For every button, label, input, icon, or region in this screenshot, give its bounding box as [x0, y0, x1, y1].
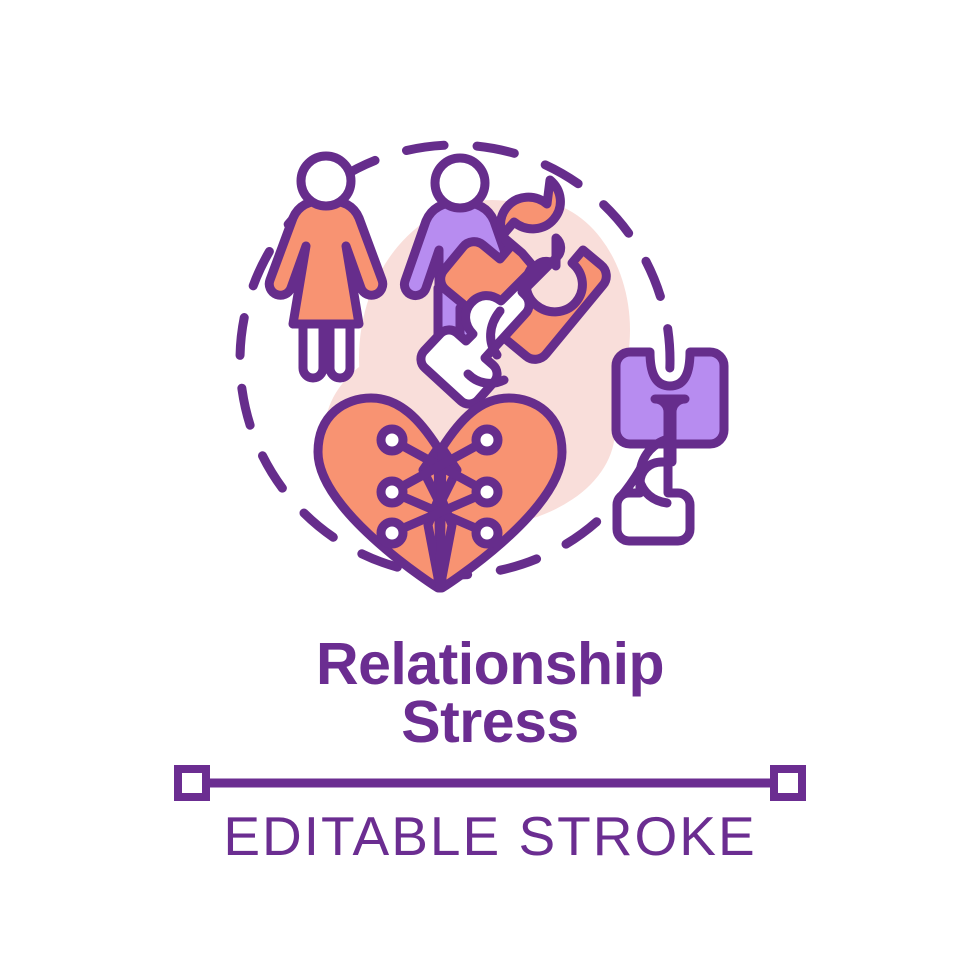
stroke-width-indicator[interactable]	[178, 769, 802, 797]
concept-title: Relationship Stress	[316, 631, 664, 755]
editable-stroke-label: EDITABLE STROKE	[223, 805, 756, 867]
title-line-2: Stress	[401, 689, 578, 755]
stroke-handle-right[interactable]	[774, 769, 802, 797]
title-line-1: Relationship	[316, 631, 664, 697]
concept-icon-card: Relationship Stress EDITABLE STROKE	[0, 0, 980, 980]
concept-illustration: Relationship Stress EDITABLE STROKE	[0, 0, 980, 980]
stroke-handle-left[interactable]	[178, 769, 206, 797]
